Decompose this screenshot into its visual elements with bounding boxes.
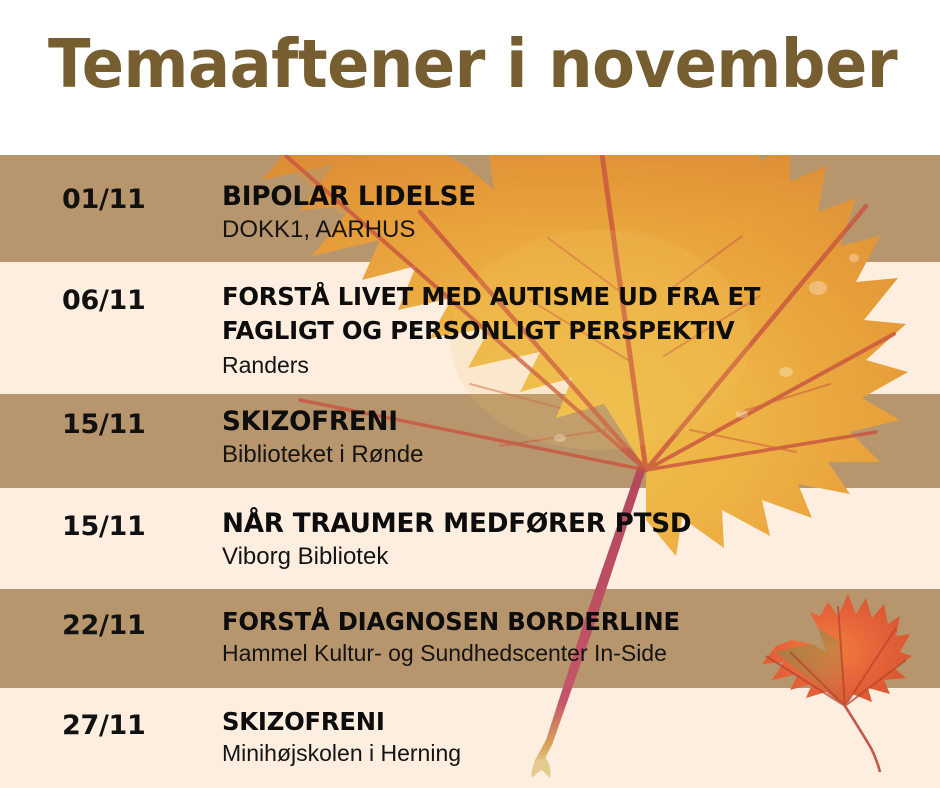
event-date: 15/11: [62, 409, 146, 440]
poster-root: Temaaftener i november 01/11 BIPOLAR LID…: [0, 0, 940, 788]
event-title-line: SKIZOFRENI: [222, 404, 901, 440]
event-title-line: FAGLIGT OG PERSONLIGT PERSPEKTIV: [222, 314, 901, 348]
event-venue: Randers: [222, 351, 922, 380]
event-body: BIPOLAR LIDELSE DOKK1, AARHUS: [222, 179, 922, 245]
event-body: NÅR TRAUMER MEDFØRER PTSD Viborg Bibliot…: [222, 506, 922, 572]
event-body: FORSTÅ LIVET MED AUTISME UD FRA ET FAGLI…: [222, 280, 922, 380]
event-title-line: FORSTÅ LIVET MED AUTISME UD FRA ET: [222, 280, 901, 314]
event-body: FORSTÅ DIAGNOSEN BORDERLINE Hammel Kultu…: [222, 605, 922, 668]
event-date: 01/11: [62, 184, 146, 215]
list-item[interactable]: 22/11 FORSTÅ DIAGNOSEN BORDERLINE Hammel…: [0, 589, 940, 688]
event-title-line: FORSTÅ DIAGNOSEN BORDERLINE: [222, 605, 901, 639]
list-item[interactable]: 27/11 SKIZOFRENI Minihøjskolen i Herning: [0, 688, 940, 788]
event-venue: DOKK1, AARHUS: [222, 215, 922, 245]
poster-header: Temaaftener i november: [0, 0, 940, 155]
event-venue: Minihøjskolen i Herning: [222, 739, 922, 768]
event-date: 22/11: [62, 610, 146, 641]
event-body: SKIZOFRENI Biblioteket i Rønde: [222, 404, 922, 470]
event-venue: Biblioteket i Rønde: [222, 440, 922, 470]
event-venue: Viborg Bibliotek: [222, 542, 922, 572]
event-date: 27/11: [62, 710, 146, 741]
event-title-line: BIPOLAR LIDELSE: [222, 179, 901, 215]
event-title-line: NÅR TRAUMER MEDFØRER PTSD: [222, 506, 901, 542]
event-date: 15/11: [62, 511, 146, 542]
event-body: SKIZOFRENI Minihøjskolen i Herning: [222, 705, 922, 768]
list-item[interactable]: 01/11 BIPOLAR LIDELSE DOKK1, AARHUS: [0, 155, 940, 262]
list-item[interactable]: 15/11 NÅR TRAUMER MEDFØRER PTSD Viborg B…: [0, 488, 940, 589]
list-item[interactable]: 06/11 FORSTÅ LIVET MED AUTISME UD FRA ET…: [0, 262, 940, 394]
event-date: 06/11: [62, 285, 146, 316]
event-venue: Hammel Kultur- og Sundhedscenter In-Side: [222, 639, 922, 668]
page-title: Temaaftener i november: [48, 31, 897, 98]
list-item[interactable]: 15/11 SKIZOFRENI Biblioteket i Rønde: [0, 394, 940, 488]
event-title-line: SKIZOFRENI: [222, 705, 901, 739]
